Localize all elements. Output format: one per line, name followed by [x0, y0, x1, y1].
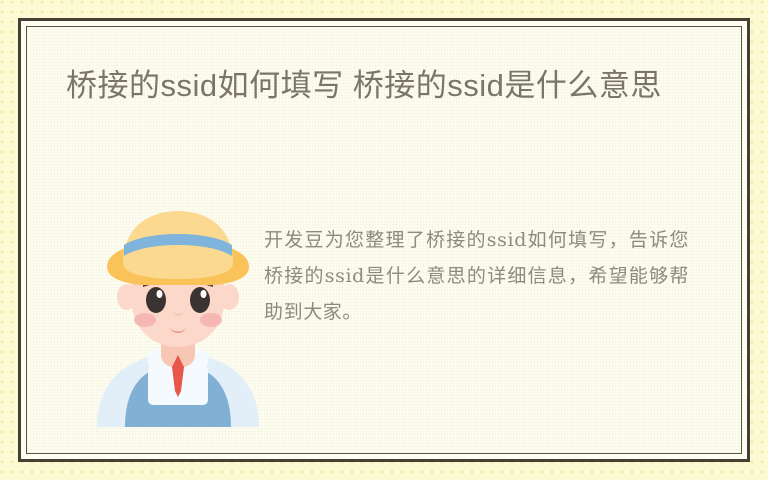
- card-inner: 桥接的ssid如何填写 桥接的ssid是什么意思: [26, 26, 742, 454]
- content-row: 开发豆为您整理了桥接的ssid如何填写，告诉您桥接的ssid是什么意思的详细信息…: [27, 187, 741, 447]
- article-body: 开发豆为您整理了桥接的ssid如何填写，告诉您桥接的ssid是什么意思的详细信息…: [264, 222, 689, 330]
- page-title: 桥接的ssid如何填写 桥接的ssid是什么意思: [66, 64, 716, 107]
- card-frame: 桥接的ssid如何填写 桥接的ssid是什么意思: [18, 18, 750, 462]
- body-group: [97, 333, 259, 427]
- bucket-hat-group: [107, 211, 249, 285]
- boy-with-bucket-hat-avatar: [85, 205, 271, 427]
- poster-page: 桥接的ssid如何填写 桥接的ssid是什么意思: [0, 0, 768, 480]
